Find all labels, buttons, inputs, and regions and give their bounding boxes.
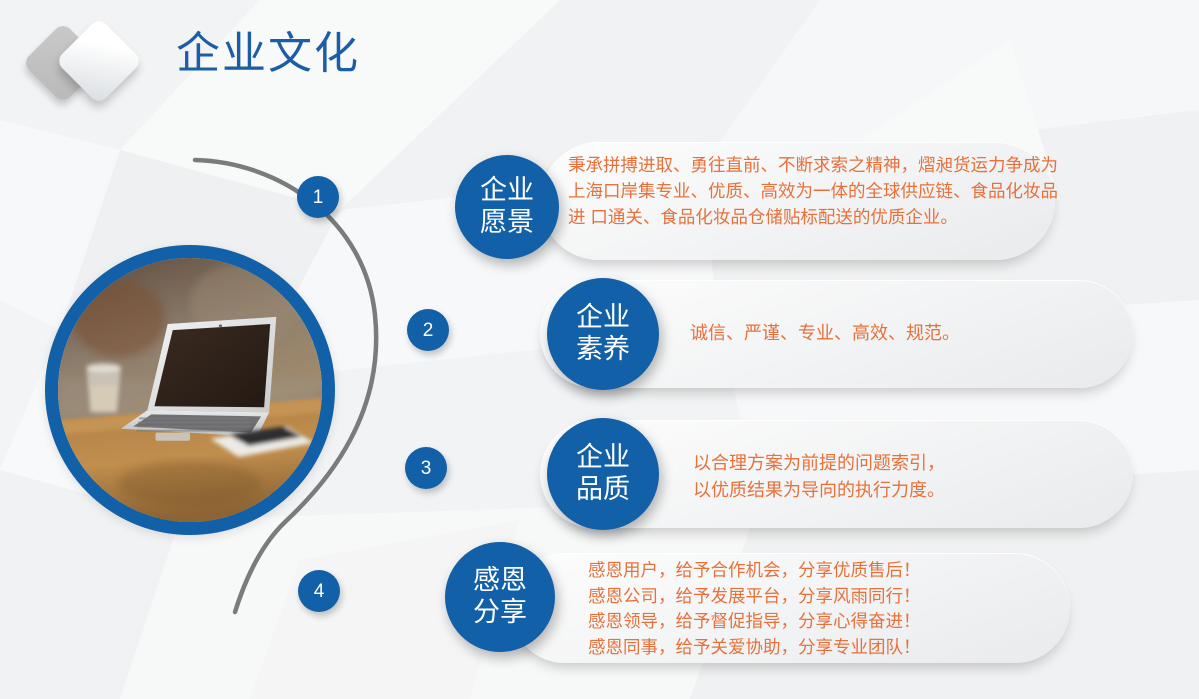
row-badge-gratitude[interactable]: 感恩 分享	[445, 542, 555, 652]
row-body-text: 以合理方案为前提的问题索引， 以优质结果为导向的执行力度。	[693, 450, 1123, 504]
badge-line-1: 企业	[480, 175, 534, 207]
step-marker-2[interactable]: 2	[407, 309, 449, 351]
badge-line-1: 企业	[576, 442, 630, 474]
badge-line-2: 愿景	[480, 207, 534, 239]
row-badge-vision[interactable]: 企业 愿景	[455, 155, 559, 259]
step-marker-4[interactable]: 4	[298, 570, 340, 612]
page-title: 企业文化	[176, 32, 360, 76]
row-body-text: 秉承拼搏进取、勇往直前、不断求索之精神，熠昶货运力争成为上海口岸集专业、优质、高…	[568, 152, 1068, 230]
step-marker-3[interactable]: 3	[405, 447, 447, 489]
row-badge-quality[interactable]: 企业 品质	[547, 418, 659, 530]
badge-line-2: 素养	[576, 334, 630, 366]
logo	[24, 22, 148, 102]
row-body-text: 诚信、严谨、专业、高效、规范。	[690, 320, 1110, 346]
row-badge-literacy[interactable]: 企业 素养	[547, 278, 659, 390]
badge-line-1: 企业	[576, 302, 630, 334]
slide-canvas: 企业文化	[0, 0, 1199, 699]
badge-line-1: 感恩	[473, 565, 527, 597]
step-marker-1[interactable]: 1	[297, 176, 339, 218]
badge-line-2: 品质	[576, 474, 630, 506]
row-body-text: 感恩用户，给予合作机会，分享优质售后！ 感恩公司，给予发展平台，分享风雨同行！ …	[588, 558, 1028, 660]
badge-line-2: 分享	[473, 597, 527, 629]
